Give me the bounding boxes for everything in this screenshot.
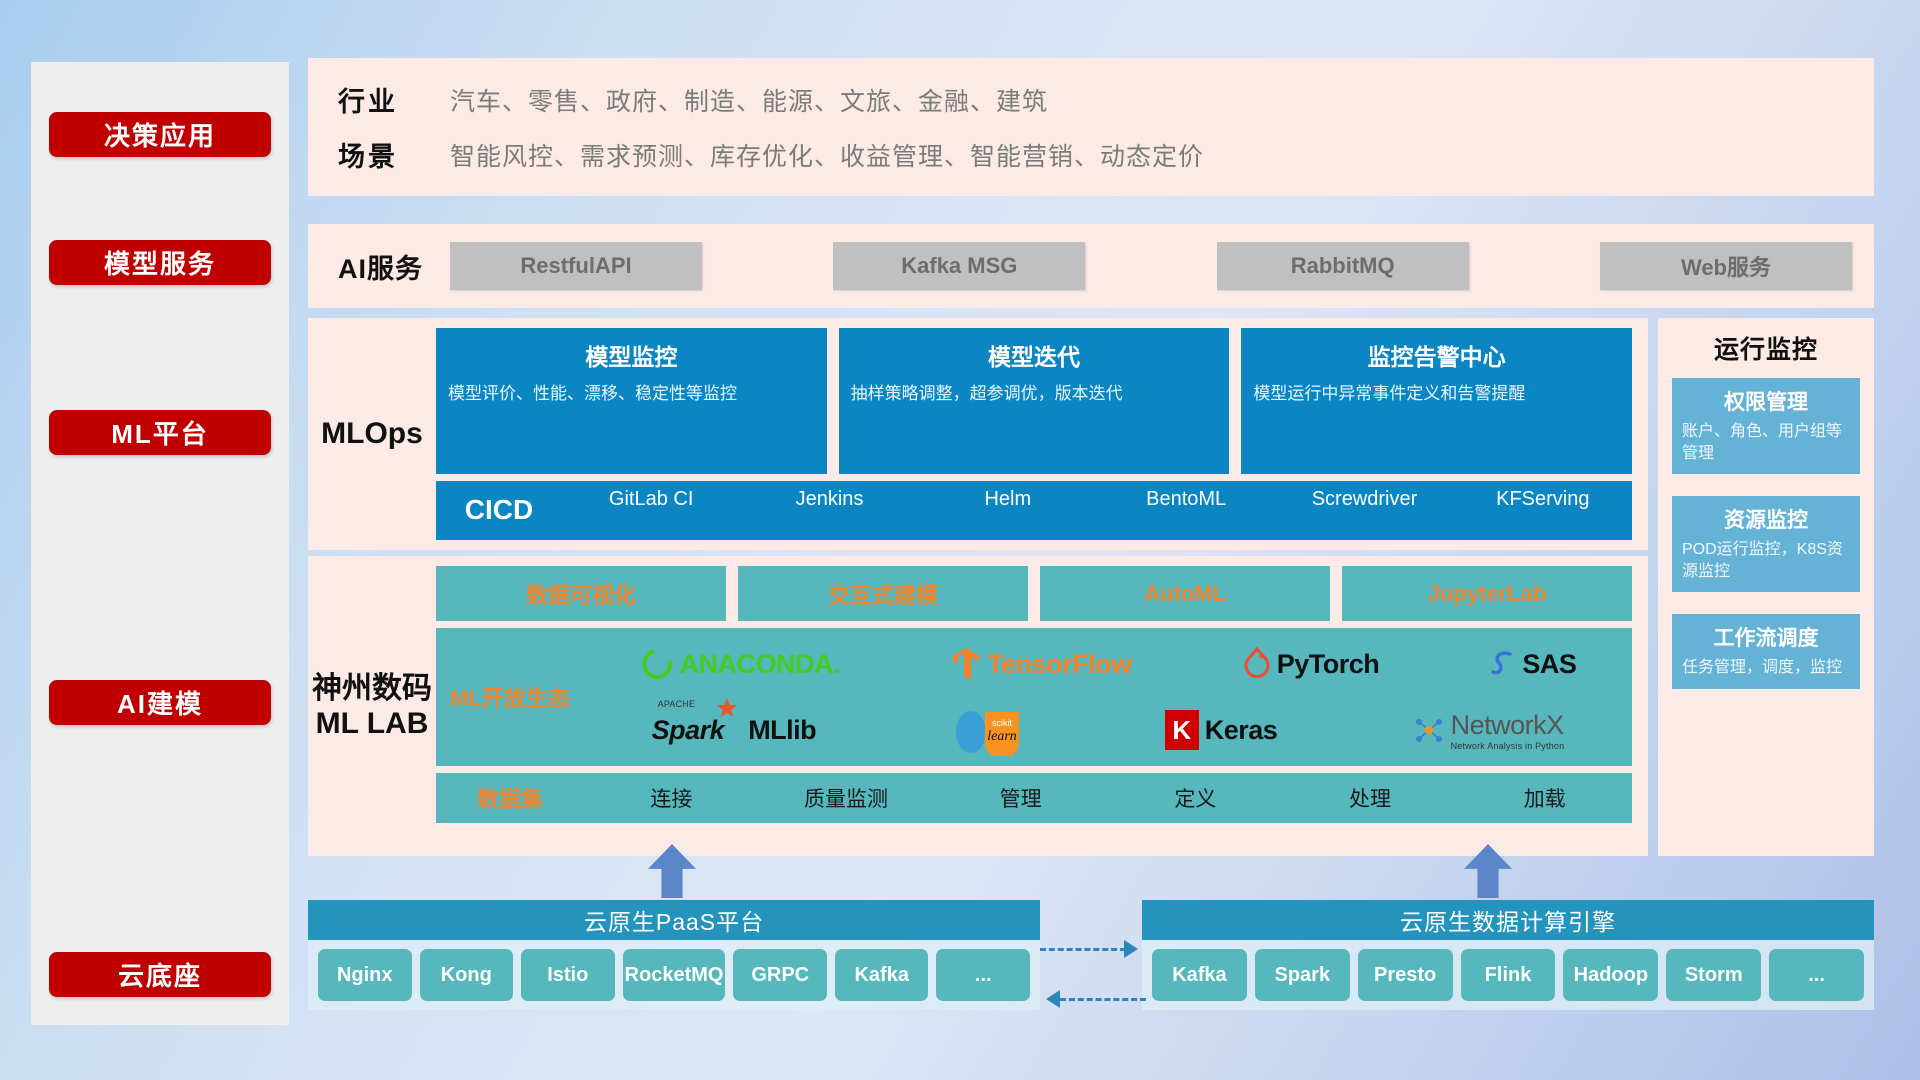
dataset-item-manage[interactable]: 管理 xyxy=(933,783,1108,813)
sidebar-item-decision-apps[interactable]: 决策应用 xyxy=(49,112,271,157)
cloud-item-kong[interactable]: Kong xyxy=(420,949,514,1001)
mlops-inner: MLOps 模型监控 模型评价、性能、漂移、稳定性等监控 模型迭代 抽样策略调整… xyxy=(308,318,1648,550)
sidebar-item-ml-platform[interactable]: ML平台 xyxy=(49,410,271,455)
cloud-native-paas-group: 云原生PaaS平台 Nginx Kong Istio RocketMQ GRPC… xyxy=(308,900,1040,1025)
cicd-item-kfserving[interactable]: KFServing xyxy=(1454,489,1632,531)
anaconda-wordmark: ANACONDA. xyxy=(680,649,841,680)
ml-lab-label: 神州数码 ML LAB xyxy=(308,566,436,846)
spark-mllib-logo: APACHE Spark MLlib xyxy=(652,715,817,746)
industry-label: 行业 xyxy=(338,80,450,119)
pytorch-icon xyxy=(1243,647,1271,681)
ml-ecosystem-label: ML开放生态 xyxy=(436,681,584,713)
dataset-item-load[interactable]: 加载 xyxy=(1457,783,1632,813)
arrow-right-icon xyxy=(1124,940,1138,958)
networkx-icon xyxy=(1413,714,1445,746)
monitoring-card-resource[interactable]: 资源监控 POD运行监控，K8S资源监控 xyxy=(1672,496,1860,592)
ml-ecosystem-logos: ANACONDA. TensorFlow xyxy=(584,633,1632,761)
sas-wordmark: SAS xyxy=(1522,649,1576,680)
dataset-item-list: 连接 质量监测 管理 定义 处理 加载 xyxy=(584,783,1632,813)
dataset-label: 数据集 xyxy=(436,782,584,814)
cloud-item-rocketmq[interactable]: RocketMQ xyxy=(623,949,726,1001)
card-title: 模型监控 xyxy=(448,338,815,372)
ml-tool-list: 数据可视化 交互式建模 AutoML JupyterLab xyxy=(436,566,1632,621)
card-desc: POD运行监控，K8S资源监控 xyxy=(1682,539,1850,582)
ai-service-chip-kafka-msg[interactable]: Kafka MSG xyxy=(833,242,1085,290)
anaconda-icon xyxy=(640,647,674,681)
monitoring-card-permission[interactable]: 权限管理 账户、角色、用户组等管理 xyxy=(1672,378,1860,474)
ml-ecosystem-logos-row-2: APACHE Spark MLlib xyxy=(584,699,1632,761)
dataset-item-quality-monitor[interactable]: 质量监测 xyxy=(759,783,934,813)
sas-logo: SAS xyxy=(1490,648,1576,680)
dashed-line-left xyxy=(1060,998,1146,1001)
scenario-label: 场景 xyxy=(338,135,450,174)
mllib-wordmark: MLlib xyxy=(748,715,816,746)
arrow-left-icon xyxy=(1046,990,1060,1008)
engine-item-more[interactable]: ... xyxy=(1769,949,1864,1001)
spark-wordmark: Spark xyxy=(652,715,725,745)
networkx-tagline: Network Analysis in Python xyxy=(1451,741,1565,751)
ai-service-band: AI服务 RestfulAPI Kafka MSG RabbitMQ Web服务 xyxy=(308,224,1874,308)
cloud-data-engine-item-list: Kafka Spark Presto Flink Hadoop Storm ..… xyxy=(1142,940,1874,1010)
cloud-item-nginx[interactable]: Nginx xyxy=(318,949,412,1001)
monitoring-card-workflow[interactable]: 工作流调度 任务管理，调度，监控 xyxy=(1672,614,1860,689)
ml-tool-data-visualization[interactable]: 数据可视化 xyxy=(436,566,726,621)
ai-service-chip-restfulapi[interactable]: RestfulAPI xyxy=(450,242,702,290)
sidebar-item-label: 决策应用 xyxy=(104,116,216,153)
cicd-item-list: GitLab CI Jenkins Helm BentoML Screwdriv… xyxy=(562,489,1632,531)
card-title: 资源监控 xyxy=(1682,504,1850,534)
scikit-learn-logo: scikit learn xyxy=(951,704,1029,756)
anaconda-logo: ANACONDA. xyxy=(640,647,841,681)
cloud-item-grpc[interactable]: GRPC xyxy=(733,949,827,1001)
decision-applications-band: 行业 汽车、零售、政府、制造、能源、文旅、金融、建筑 场景 智能风控、需求预测、… xyxy=(308,58,1874,196)
ml-lab-inner: 神州数码 ML LAB 数据可视化 交互式建模 AutoML JupyterLa… xyxy=(308,556,1648,856)
layer-sidebar: 决策应用 模型服务 ML平台 AI建模 云底座 xyxy=(31,62,289,1025)
tensorflow-logo: TensorFlow xyxy=(951,646,1132,682)
tensorflow-wordmark: TensorFlow xyxy=(987,649,1132,680)
diagram-canvas: 决策应用 模型服务 ML平台 AI建模 云底座 行业 汽车、零售、政府、制造、能… xyxy=(0,0,1920,1080)
scikit-learn-icon: scikit learn xyxy=(951,704,1029,756)
cloud-item-more[interactable]: ... xyxy=(936,949,1030,1001)
ml-lab-band: 神州数码 ML LAB 数据可视化 交互式建模 AutoML JupyterLa… xyxy=(308,556,1648,856)
engine-item-hadoop[interactable]: Hadoop xyxy=(1563,949,1658,1001)
ml-open-ecosystem: ML开放生态 ANACONDA. xyxy=(436,628,1632,766)
mlops-card-alert-center[interactable]: 监控告警中心 模型运行中异常事件定义和告警提醒 xyxy=(1241,328,1632,474)
card-desc: 模型运行中异常事件定义和告警提醒 xyxy=(1253,382,1620,406)
engine-item-spark[interactable]: Spark xyxy=(1255,949,1350,1001)
sidebar-item-ai-modeling[interactable]: AI建模 xyxy=(49,680,271,725)
runtime-monitoring-card-list: 权限管理 账户、角色、用户组等管理 资源监控 POD运行监控，K8S资源监控 工… xyxy=(1658,366,1874,689)
svg-text:scikit: scikit xyxy=(992,718,1012,728)
ai-service-inner: AI服务 RestfulAPI Kafka MSG RabbitMQ Web服务 xyxy=(308,224,1874,308)
networkx-wordmark: NetworkX xyxy=(1451,710,1565,741)
mlops-content: 模型监控 模型评价、性能、漂移、稳定性等监控 模型迭代 抽样策略调整，超参调优，… xyxy=(436,328,1640,540)
ml-lab-label-line2: ML LAB xyxy=(312,706,432,741)
card-title: 权限管理 xyxy=(1682,386,1850,416)
keras-logo: K Keras xyxy=(1165,710,1278,750)
sidebar-item-label: ML平台 xyxy=(111,414,209,451)
card-desc: 账户、角色、用户组等管理 xyxy=(1682,421,1850,464)
cloud-item-istio[interactable]: Istio xyxy=(521,949,615,1001)
cloud-link-connectors xyxy=(1040,940,1146,1020)
ml-lab-label-line1: 神州数码 xyxy=(312,671,432,706)
dashed-line-right xyxy=(1040,948,1126,951)
cloud-paas-header: 云原生PaaS平台 xyxy=(308,900,1040,940)
cicd-item-screwdriver[interactable]: Screwdriver xyxy=(1275,489,1453,531)
runtime-monitoring-panel: 运行监控 权限管理 账户、角色、用户组等管理 资源监控 POD运行监控，K8S资… xyxy=(1658,318,1874,856)
mlops-band: MLOps 模型监控 模型评价、性能、漂移、稳定性等监控 模型迭代 抽样策略调整… xyxy=(308,318,1648,550)
apache-label: APACHE xyxy=(658,699,696,709)
svg-text:learn: learn xyxy=(988,729,1018,744)
runtime-monitoring-title: 运行监控 xyxy=(1658,318,1874,366)
pytorch-logo: PyTorch xyxy=(1243,647,1380,681)
ai-service-chip-rabbitmq[interactable]: RabbitMQ xyxy=(1217,242,1469,290)
mlops-card-list: 模型监控 模型评价、性能、漂移、稳定性等监控 模型迭代 抽样策略调整，超参调优，… xyxy=(436,328,1632,474)
ml-tool-automl[interactable]: AutoML xyxy=(1040,566,1330,621)
ai-service-label: AI服务 xyxy=(338,247,450,286)
ai-service-chip-list: RestfulAPI Kafka MSG RabbitMQ Web服务 xyxy=(450,242,1874,290)
dataset-item-process[interactable]: 处理 xyxy=(1283,783,1458,813)
sidebar-item-label: 模型服务 xyxy=(104,244,216,281)
mlops-card-model-monitoring[interactable]: 模型监控 模型评价、性能、漂移、稳定性等监控 xyxy=(436,328,827,474)
cicd-item-jenkins[interactable]: Jenkins xyxy=(740,489,918,531)
cicd-item-bentoml[interactable]: BentoML xyxy=(1097,489,1275,531)
dataset-item-define[interactable]: 定义 xyxy=(1108,783,1283,813)
ml-tool-jupyterlab[interactable]: JupyterLab xyxy=(1342,566,1632,621)
card-desc: 抽样策略调整，超参调优，版本迭代 xyxy=(851,382,1218,406)
card-desc: 模型评价、性能、漂移、稳定性等监控 xyxy=(448,382,815,406)
card-desc: 任务管理，调度，监控 xyxy=(1682,657,1850,679)
cloud-paas-item-list: Nginx Kong Istio RocketMQ GRPC Kafka ... xyxy=(308,940,1040,1010)
ai-service-chip-web[interactable]: Web服务 xyxy=(1600,242,1852,290)
keras-wordmark: Keras xyxy=(1205,715,1278,746)
scenario-values: 智能风控、需求预测、库存优化、收益管理、智能营销、动态定价 xyxy=(450,137,1204,173)
cicd-item-gitlab-ci[interactable]: GitLab CI xyxy=(562,489,740,531)
mlops-label: MLOps xyxy=(308,328,436,540)
cicd-item-helm[interactable]: Helm xyxy=(919,489,1097,531)
dataset-row: 数据集 连接 质量监测 管理 定义 处理 加载 xyxy=(436,773,1632,823)
tensorflow-icon xyxy=(951,646,981,682)
sidebar-item-model-service[interactable]: 模型服务 xyxy=(49,240,271,285)
networkx-logo: NetworkX Network Analysis in Python xyxy=(1413,710,1565,751)
sas-icon xyxy=(1490,648,1516,680)
ml-ecosystem-logos-row-1: ANACONDA. TensorFlow xyxy=(584,633,1632,695)
cicd-label: CICD xyxy=(436,494,562,526)
cloud-item-kafka[interactable]: Kafka xyxy=(835,949,929,1001)
sidebar-item-label: 云底座 xyxy=(118,956,202,993)
scenario-row: 场景 智能风控、需求预测、库存优化、收益管理、智能营销、动态定价 xyxy=(338,127,1874,182)
card-title: 工作流调度 xyxy=(1682,622,1850,652)
engine-item-kafka[interactable]: Kafka xyxy=(1152,949,1247,1001)
ml-lab-content: 数据可视化 交互式建模 AutoML JupyterLab ML开放生态 xyxy=(436,566,1640,846)
engine-item-flink[interactable]: Flink xyxy=(1461,949,1556,1001)
ml-tool-interactive-modeling[interactable]: 交互式建模 xyxy=(738,566,1028,621)
keras-k-icon: K xyxy=(1165,710,1199,750)
engine-item-storm[interactable]: Storm xyxy=(1666,949,1761,1001)
industry-row: 行业 汽车、零售、政府、制造、能源、文旅、金融、建筑 xyxy=(338,72,1874,127)
spark-star-icon xyxy=(716,697,738,719)
industry-values: 汽车、零售、政府、制造、能源、文旅、金融、建筑 xyxy=(450,82,1048,118)
sidebar-item-cloud-base[interactable]: 云底座 xyxy=(49,952,271,997)
mlops-card-model-iteration[interactable]: 模型迭代 抽样策略调整，超参调优，版本迭代 xyxy=(839,328,1230,474)
cloud-data-engine-header: 云原生数据计算引擎 xyxy=(1142,900,1874,940)
sidebar-item-label: AI建模 xyxy=(117,684,203,721)
applications-grid: 行业 汽车、零售、政府、制造、能源、文旅、金融、建筑 场景 智能风控、需求预测、… xyxy=(308,58,1874,196)
engine-item-presto[interactable]: Presto xyxy=(1358,949,1453,1001)
cloud-native-data-engine-group: 云原生数据计算引擎 Kafka Spark Presto Flink Hadoo… xyxy=(1142,900,1874,1025)
card-title: 模型迭代 xyxy=(851,338,1218,372)
dataset-item-connect[interactable]: 连接 xyxy=(584,783,759,813)
pytorch-wordmark: PyTorch xyxy=(1277,649,1380,680)
card-title: 监控告警中心 xyxy=(1253,338,1620,372)
cicd-row: CICD GitLab CI Jenkins Helm BentoML Scre… xyxy=(436,481,1632,540)
